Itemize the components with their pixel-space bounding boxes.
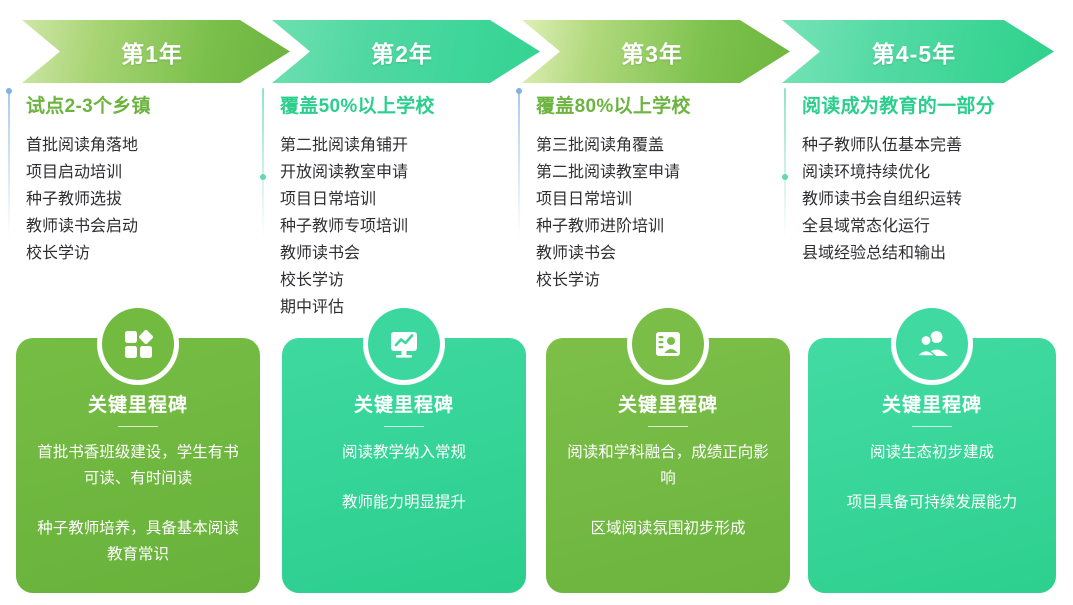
milestone-line: 教师能力明显提升 — [298, 490, 510, 516]
monitor-chart-icon — [368, 308, 440, 380]
list-item: 全县域常态化运行 — [802, 213, 1064, 240]
milestone-line: 项目具备可持续发展能力 — [824, 490, 1040, 516]
phase-item-list: 第三批阅读角覆盖 第二批阅读教室申请 项目日常培训 种子教师进阶培训 教师读书会… — [536, 132, 773, 294]
list-item: 第二批阅读教室申请 — [536, 159, 773, 186]
milestone-card-1[interactable]: 关键里程碑 首批书香班级建设，学生有书可读、有时间读 种子教师培养，具备基本阅读… — [16, 338, 260, 593]
list-item: 项目启动培训 — [26, 159, 258, 186]
list-item: 项目日常培训 — [280, 186, 512, 213]
column-divider-rule — [8, 88, 10, 238]
list-item: 校长学访 — [536, 267, 773, 294]
phase-title: 覆盖80%以上学校 — [536, 95, 773, 119]
milestone-title: 关键里程碑 — [824, 390, 1040, 417]
two-users-icon — [896, 308, 968, 380]
phase-columns: 试点2-3个乡镇 首批阅读角落地 项目启动培训 种子教师选拔 教师读书会启动 校… — [0, 86, 1073, 306]
list-item: 第二批阅读角铺开 — [280, 132, 512, 159]
list-item: 校长学访 — [280, 267, 512, 294]
timeline-arrow-band: 第1年 第2年 第3年 第4-5年 — [0, 0, 1073, 86]
timeline-arrow-label: 第4-5年 — [872, 35, 956, 69]
phase-item-list: 种子教师队伍基本完善 阅读环境持续优化 教师读书会自组织运转 全县域常态化运行 … — [802, 132, 1064, 267]
column-divider-dot — [782, 174, 788, 180]
list-item: 第三批阅读角覆盖 — [536, 132, 773, 159]
timeline-arrow-label: 第1年 — [121, 35, 183, 69]
timeline-arrow-year-3[interactable]: 第3年 — [522, 20, 790, 83]
list-item: 种子教师队伍基本完善 — [802, 132, 1064, 159]
milestone-line: 阅读教学纳入常规 — [298, 440, 510, 466]
list-item: 校长学访 — [26, 240, 258, 267]
column-divider-dot — [260, 174, 266, 180]
phase-item-list: 首批阅读角落地 项目启动培训 种子教师选拔 教师读书会启动 校长学访 — [26, 132, 258, 267]
milestone-title: 关键里程碑 — [562, 390, 774, 417]
milestone-card-4[interactable]: 关键里程碑 阅读生态初步建成 项目具备可持续发展能力 — [808, 338, 1056, 593]
list-item: 首批阅读角落地 — [26, 132, 258, 159]
column-divider-dot — [6, 88, 12, 94]
phase-column-2: 覆盖50%以上学校 第二批阅读角铺开 开放阅读教室申请 项目日常培训 种子教师专… — [262, 86, 512, 321]
blocks-shapes-icon — [102, 308, 174, 380]
column-divider-rule — [518, 88, 520, 238]
phase-column-1: 试点2-3个乡镇 首批阅读角落地 项目启动培训 种子教师选拔 教师读书会启动 校… — [8, 86, 258, 267]
milestone-line: 阅读生态初步建成 — [824, 440, 1040, 466]
title-divider — [912, 426, 952, 427]
list-item: 教师读书会 — [280, 240, 512, 267]
timeline-arrow-label: 第3年 — [621, 35, 683, 69]
timeline-arrow-year-2[interactable]: 第2年 — [272, 20, 540, 83]
milestone-line: 区域阅读氛围初步形成 — [562, 516, 774, 542]
list-item: 阅读环境持续优化 — [802, 159, 1064, 186]
timeline-arrow-label: 第2年 — [371, 35, 433, 69]
milestone-cards: 关键里程碑 首批书香班级建设，学生有书可读、有时间读 种子教师培养，具备基本阅读… — [0, 310, 1073, 605]
phase-item-list: 第二批阅读角铺开 开放阅读教室申请 项目日常培训 种子教师专项培训 教师读书会 … — [280, 132, 512, 321]
phase-column-4: 阅读成为教育的一部分 种子教师队伍基本完善 阅读环境持续优化 教师读书会自组织运… — [784, 86, 1064, 267]
list-item: 种子教师专项培训 — [280, 213, 512, 240]
milestone-line: 首批书香班级建设，学生有书可读、有时间读 — [32, 440, 244, 492]
list-item: 开放阅读教室申请 — [280, 159, 512, 186]
milestone-card-2[interactable]: 关键里程碑 阅读教学纳入常规 教师能力明显提升 — [282, 338, 526, 593]
list-item: 项目日常培训 — [536, 186, 773, 213]
timeline-arrow-year-4-5[interactable]: 第4-5年 — [782, 20, 1054, 83]
column-divider-rule — [784, 88, 786, 238]
phase-title: 覆盖50%以上学校 — [280, 95, 512, 119]
list-item: 县域经验总结和输出 — [802, 240, 1064, 267]
timeline-arrow-year-1[interactable]: 第1年 — [22, 20, 290, 83]
title-divider — [118, 426, 158, 427]
list-item: 教师读书会启动 — [26, 213, 258, 240]
column-divider-rule — [262, 88, 264, 238]
title-divider — [384, 426, 424, 427]
list-item: 教师读书会自组织运转 — [802, 186, 1064, 213]
milestone-line: 种子教师培养，具备基本阅读教育常识 — [32, 516, 244, 568]
list-item: 种子教师进阶培训 — [536, 213, 773, 240]
milestone-line: 阅读和学科融合，成绩正向影响 — [562, 440, 774, 492]
phase-title: 试点2-3个乡镇 — [26, 95, 258, 119]
id-card-person-icon — [632, 308, 704, 380]
title-divider — [648, 426, 688, 427]
list-item: 教师读书会 — [536, 240, 773, 267]
list-item: 种子教师选拔 — [26, 186, 258, 213]
phase-title: 阅读成为教育的一部分 — [802, 95, 1064, 119]
phase-column-3: 覆盖80%以上学校 第三批阅读角覆盖 第二批阅读教室申请 项目日常培训 种子教师… — [518, 86, 773, 294]
milestone-title: 关键里程碑 — [298, 390, 510, 417]
column-divider-dot — [516, 88, 522, 94]
milestone-title: 关键里程碑 — [32, 390, 244, 417]
milestone-card-3[interactable]: 关键里程碑 阅读和学科融合，成绩正向影响 区域阅读氛围初步形成 — [546, 338, 790, 593]
